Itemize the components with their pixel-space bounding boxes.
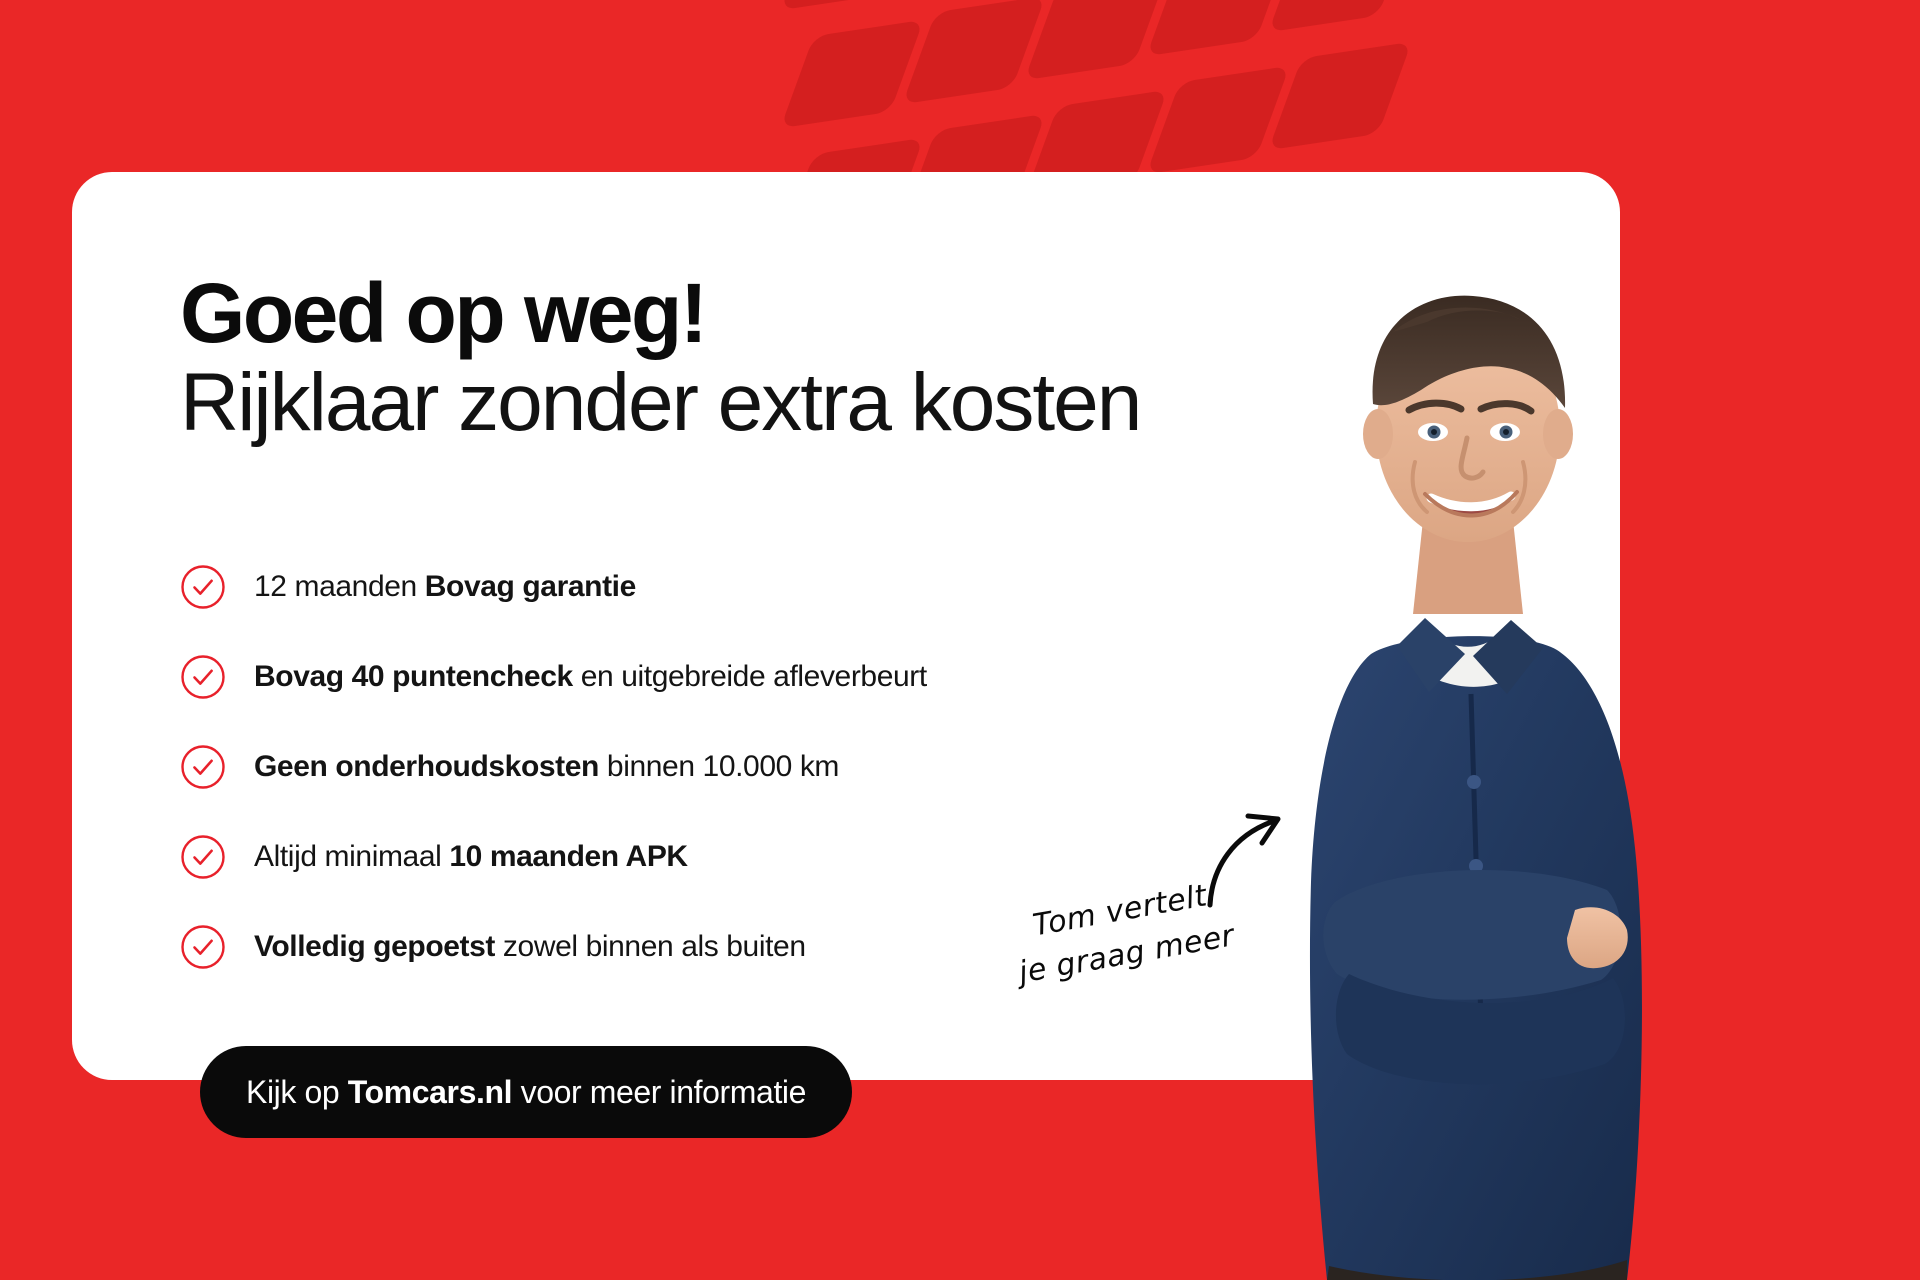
feature-prefix: Altijd minimaal [254,840,449,873]
cta-label: Kijk op Tomcars.nl voor meer informatie [246,1074,806,1111]
feature-suffix: binnen 10.000 km [599,750,839,783]
feature-text: Geen onderhoudskosten binnen 10.000 km [254,750,839,784]
check-circle-icon [180,924,226,970]
feature-suffix: zowel binnen als buiten [495,930,806,963]
check-circle-icon [180,744,226,790]
cta-brand: Tomcars.nl [348,1074,512,1110]
list-item: Altijd minimaal 10 maanden APK [180,820,1160,894]
page-subtitle: Rijklaar zonder extra kosten [180,360,1380,447]
page-title: Goed op weg! [180,272,1380,354]
check-circle-icon [180,834,226,880]
feature-emphasis: 10 maanden APK [449,840,687,873]
feature-text: Volledig gepoetst zowel binnen als buite… [254,930,806,964]
banner-canvas: Goed op weg! Rijklaar zonder extra koste… [0,0,1920,1280]
feature-list: 12 maanden Bovag garantie Bovag 40 punte… [180,550,1160,1000]
avatar [1275,262,1835,1280]
feature-text: Bovag 40 puntencheck en uitgebreide afle… [254,660,927,694]
list-item: Geen onderhoudskosten binnen 10.000 km [180,730,1160,804]
cta-prefix: Kijk op [246,1074,348,1110]
list-item: Volledig gepoetst zowel binnen als buite… [180,910,1160,984]
list-item: 12 maanden Bovag garantie [180,550,1160,624]
check-circle-icon [180,654,226,700]
feature-suffix: en uitgebreide afleverbeurt [573,660,927,693]
feature-emphasis: Bovag garantie [425,570,636,603]
check-circle-icon [180,564,226,610]
feature-text: 12 maanden Bovag garantie [254,570,636,604]
more-info-button[interactable]: Kijk op Tomcars.nl voor meer informatie [200,1046,852,1138]
feature-text: Altijd minimaal 10 maanden APK [254,840,688,874]
feature-emphasis: Geen onderhoudskosten [254,750,599,783]
list-item: Bovag 40 puntencheck en uitgebreide afle… [180,640,1160,714]
cta-suffix: voor meer informatie [512,1074,806,1110]
feature-prefix: 12 maanden [254,570,425,603]
feature-emphasis: Volledig gepoetst [254,930,495,963]
headline-block: Goed op weg! Rijklaar zonder extra koste… [180,272,1380,447]
feature-emphasis: Bovag 40 puntencheck [254,660,573,693]
